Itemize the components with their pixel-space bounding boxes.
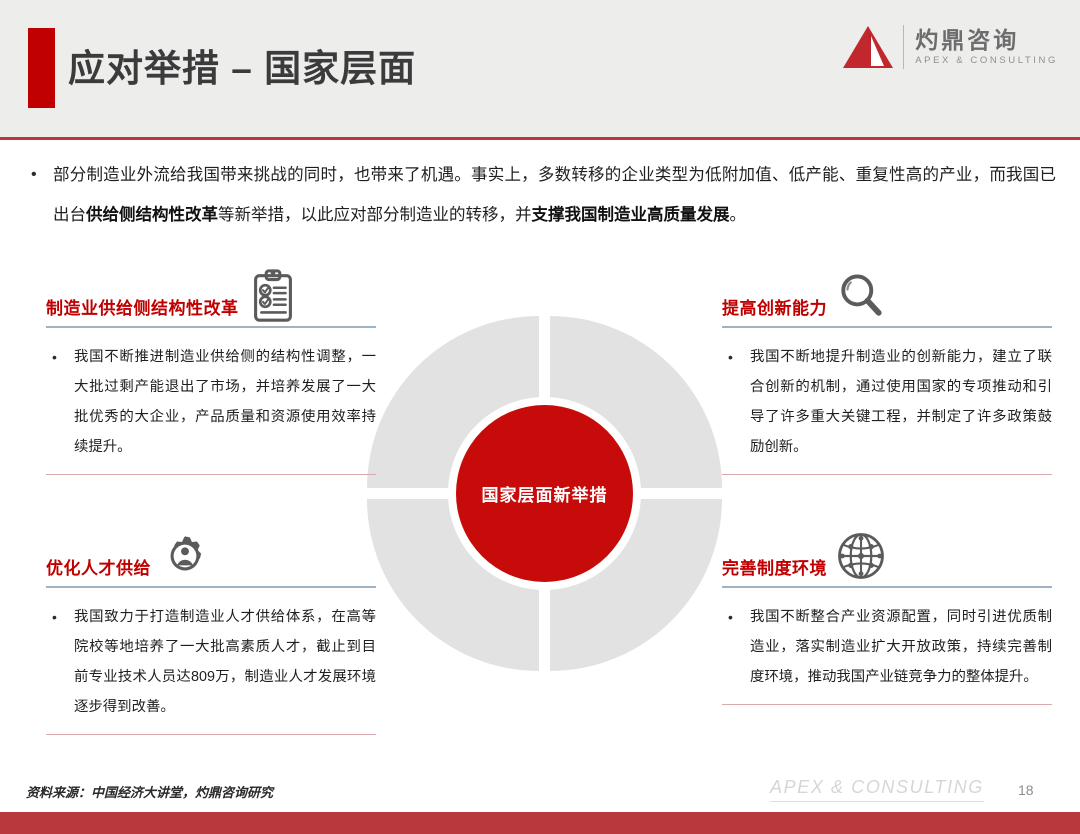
card-bullet: •: [52, 342, 74, 462]
footer-bar: [0, 812, 1080, 834]
red-triangle-mark: [841, 22, 895, 72]
page-number: 18: [1018, 782, 1034, 798]
card-bullet: •: [728, 602, 750, 692]
globe-network-icon: [831, 526, 891, 586]
card-divider-bottom: [46, 474, 376, 476]
card-divider-bottom: [46, 734, 376, 736]
card-header: 制造业供给侧结构性改革: [46, 258, 376, 326]
logo-name-cn: 灼鼎咨询: [915, 28, 1058, 52]
card-header: 提高创新能力: [722, 258, 1052, 326]
gear-person-icon: [155, 526, 215, 586]
title-accent-bar: [28, 28, 55, 108]
logo-separator: [903, 25, 904, 69]
center-donut-diagram: 国家层面新举措: [367, 316, 722, 671]
card-header: 优化人才供给: [46, 518, 376, 586]
card-header: 完善制度环境: [722, 518, 1052, 586]
card-body: • 我国不断整合产业资源配置，同时引进优质制造业，落实制造业扩大开放政策，持续完…: [722, 588, 1052, 704]
card-innovation-capability: 提高创新能力 • 我国不断地提升制造业的创新能力，建立了联合创新的机制，通过使用…: [722, 258, 1052, 475]
card-text: 我国致力于打造制造业人才供给体系，在高等院校等地培养了一大批高素质人才，截止到目…: [74, 602, 376, 722]
card-text: 我国不断地提升制造业的创新能力，建立了联合创新的机制，通过使用国家的专项推动和引…: [750, 342, 1052, 462]
card-body: • 我国不断推进制造业供给侧的结构性调整，一大批过剩产能退出了市场，并培养发展了…: [46, 328, 376, 474]
page-title: 应对举措 – 国家层面: [68, 38, 416, 92]
logo-text: 灼鼎咨询 APEX & CONSULTING: [915, 28, 1058, 66]
card-bullet: •: [52, 602, 74, 722]
footer-source: 资料来源：中国经济大讲堂，灼鼎咨询研究: [26, 782, 273, 801]
card-divider-bottom: [722, 474, 1052, 476]
card-divider-bottom: [722, 704, 1052, 706]
company-logo: 灼鼎咨询 APEX & CONSULTING: [841, 18, 1058, 76]
intro-text: 部分制造业外流给我国带来挑战的同时，也带来了机遇。事实上，多数转移的企业类型为低…: [53, 155, 1056, 235]
card-talent-supply: 优化人才供给 • 我国致力于打造制造业人才供给体系，在高等院校等地培养了一大批高…: [46, 518, 376, 735]
card-bullet: •: [728, 342, 750, 462]
intro-paragraph: • 部分制造业外流给我国带来挑战的同时，也带来了机遇。事实上，多数转移的企业类型…: [26, 155, 1056, 235]
clipboard-checklist-icon: [243, 266, 303, 326]
header-divider: [0, 137, 1080, 140]
card-text: 我国不断推进制造业供给侧的结构性调整，一大批过剩产能退出了市场，并培养发展了一大…: [74, 342, 376, 462]
card-title: 优化人才供给: [46, 560, 151, 586]
intro-text-part2: 等新举措，以此应对部分制造业的转移，并: [218, 206, 532, 224]
magnifier-icon: [831, 266, 891, 326]
logo-name-en: APEX & CONSULTING: [915, 55, 1058, 66]
card-institutional-environment: 完善制度环境: [722, 518, 1052, 705]
card-supply-side-reform: 制造业供给侧结构性改革 •: [46, 258, 376, 475]
donut-core-label: 国家层面新举措: [482, 481, 608, 506]
donut-core: 国家层面新举措: [456, 405, 633, 582]
card-title: 制造业供给侧结构性改革: [46, 300, 239, 326]
card-body: • 我国不断地提升制造业的创新能力，建立了联合创新的机制，通过使用国家的专项推动…: [722, 328, 1052, 474]
intro-bold-1: 供给侧结构性改革: [86, 206, 218, 224]
card-text: 我国不断整合产业资源配置，同时引进优质制造业，落实制造业扩大开放政策，持续完善制…: [750, 602, 1052, 692]
card-title: 完善制度环境: [722, 560, 827, 586]
intro-text-part3: 。: [730, 206, 747, 224]
intro-bullet: •: [26, 155, 53, 235]
intro-bold-2: 支撑我国制造业高质量发展: [532, 206, 730, 224]
card-body: • 我国致力于打造制造业人才供给体系，在高等院校等地培养了一大批高素质人才，截止…: [46, 588, 376, 734]
footer-watermark: APEX & CONSULTING: [770, 777, 984, 802]
card-title: 提高创新能力: [722, 300, 827, 326]
slide: 应对举措 – 国家层面 灼鼎咨询 APEX & CONSULTING • 部分制…: [0, 0, 1080, 834]
